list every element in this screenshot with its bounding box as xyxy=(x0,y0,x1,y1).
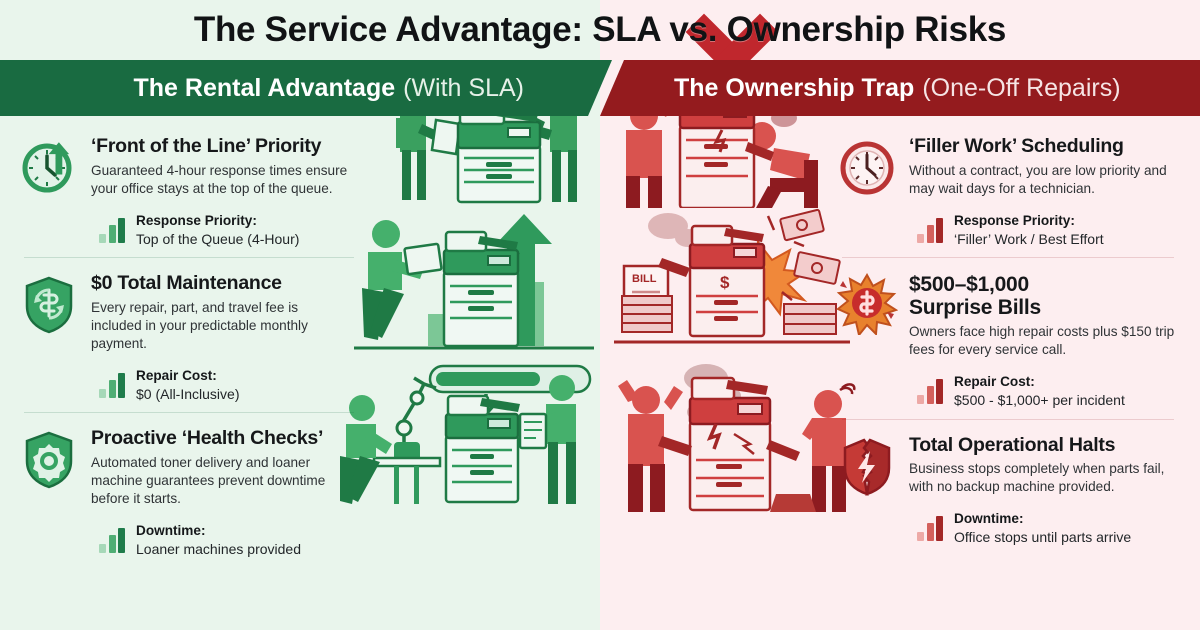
broken-shield-bolt-icon xyxy=(836,435,898,497)
right-heading-2-line2: Surprise Bills xyxy=(909,296,1188,319)
left-block-health-checks: Proactive ‘Health Checks’ Automated tone… xyxy=(18,412,368,567)
right-stat-1: Response Priority: ‘Filler’ Work / Best … xyxy=(909,211,1188,249)
left-stat-3: Downtime: Loaner machines provided xyxy=(91,521,368,559)
clock-icon xyxy=(836,136,898,198)
right-block-filler-work: ‘Filler Work’ Scheduling Without a contr… xyxy=(836,120,1188,257)
left-heading-1: ‘Front of the Line’ Priority xyxy=(91,136,368,158)
left-stat-value-2: $0 (All-Inclusive) xyxy=(136,386,239,402)
right-heading-2-line1: $500–$1,000 xyxy=(909,273,1188,296)
column-ownership-trap: ‘Filler Work’ Scheduling Without a contr… xyxy=(600,120,1200,630)
right-stat-label-1: Response Priority: xyxy=(954,213,1075,228)
banner-left-strong: The Rental Advantage xyxy=(134,74,396,103)
left-heading-2: $0 Total Maintenance xyxy=(91,273,368,295)
right-desc-2: Owners face high repair costs plus $150 … xyxy=(909,323,1187,359)
bar-chart-icon xyxy=(99,217,127,243)
bar-chart-icon xyxy=(99,527,127,553)
right-stat-label-2: Repair Cost: xyxy=(954,374,1035,389)
right-stat-label-3: Downtime: xyxy=(954,511,1023,526)
bar-chart-icon xyxy=(917,515,945,541)
left-stat-value-3: Loaner machines provided xyxy=(136,541,301,557)
left-stat-label-2: Repair Cost: xyxy=(136,368,217,383)
left-stat-value-1: Top of the Queue (4-Hour) xyxy=(136,231,299,247)
right-heading-1: ‘Filler Work’ Scheduling xyxy=(909,136,1188,158)
left-desc-3: Automated toner delivery and loaner mach… xyxy=(91,454,351,508)
right-desc-3: Business stops completely when parts fai… xyxy=(909,460,1169,496)
right-blocks: ‘Filler Work’ Scheduling Without a contr… xyxy=(836,120,1188,556)
title-bar: The Service Advantage: SLA vs. Ownership… xyxy=(0,0,1200,60)
banner-right-strong: The Ownership Trap xyxy=(674,74,914,103)
right-stat-value-2: $500 - $1,000+ per incident xyxy=(954,392,1125,408)
page-title: The Service Advantage: SLA vs. Ownership… xyxy=(194,10,1006,50)
banner-right-light: (One-Off Repairs) xyxy=(922,74,1120,103)
shield-gear-icon xyxy=(18,428,80,490)
banner-left-light: (With SLA) xyxy=(403,74,524,103)
clock-arrow-icon xyxy=(18,136,80,198)
bar-chart-icon xyxy=(99,372,127,398)
left-block-maintenance: $0 Total Maintenance Every repair, part,… xyxy=(18,257,368,412)
banner-row: The Rental Advantage (With SLA) The Owne… xyxy=(0,60,1200,116)
right-stat-3: Downtime: Office stops until parts arriv… xyxy=(909,509,1188,547)
left-stat-2: Repair Cost: $0 (All-Inclusive) xyxy=(91,366,368,404)
right-desc-1: Without a contract, you are low priority… xyxy=(909,162,1169,198)
right-stat-value-1: ‘Filler’ Work / Best Effort xyxy=(954,231,1104,247)
right-heading-3: Total Operational Halts xyxy=(909,435,1188,457)
left-heading-3: Proactive ‘Health Checks’ xyxy=(91,428,368,450)
bar-chart-icon xyxy=(917,217,945,243)
banner-ownership-trap: The Ownership Trap (One-Off Repairs) xyxy=(600,60,1200,116)
infographic-canvas: The Service Advantage: SLA vs. Ownership… xyxy=(0,0,1200,630)
right-stat-2: Repair Cost: $500 - $1,000+ per incident xyxy=(909,372,1188,410)
bar-chart-icon xyxy=(917,378,945,404)
column-rental-advantage: ‘Front of the Line’ Priority Guaranteed … xyxy=(0,120,600,630)
right-stat-value-3: Office stops until parts arrive xyxy=(954,529,1131,545)
left-stat-label-3: Downtime: xyxy=(136,523,205,538)
left-desc-2: Every repair, part, and travel fee is in… xyxy=(91,299,351,353)
left-desc-1: Guaranteed 4-hour response times ensure … xyxy=(91,162,351,198)
right-block-operational-halts: Total Operational Halts Business stops c… xyxy=(836,419,1188,556)
left-blocks: ‘Front of the Line’ Priority Guaranteed … xyxy=(18,120,368,567)
left-block-priority: ‘Front of the Line’ Priority Guaranteed … xyxy=(18,120,368,257)
left-stat-1: Response Priority: Top of the Queue (4-H… xyxy=(91,211,368,249)
banner-rental-advantage: The Rental Advantage (With SLA) xyxy=(0,60,612,116)
shield-dollar-refresh-icon xyxy=(18,273,80,335)
right-block-surprise-bills: $500–$1,000 Surprise Bills Owners face h… xyxy=(836,257,1188,418)
left-stat-label-1: Response Priority: xyxy=(136,213,257,228)
dollar-burst-icon xyxy=(836,273,898,335)
